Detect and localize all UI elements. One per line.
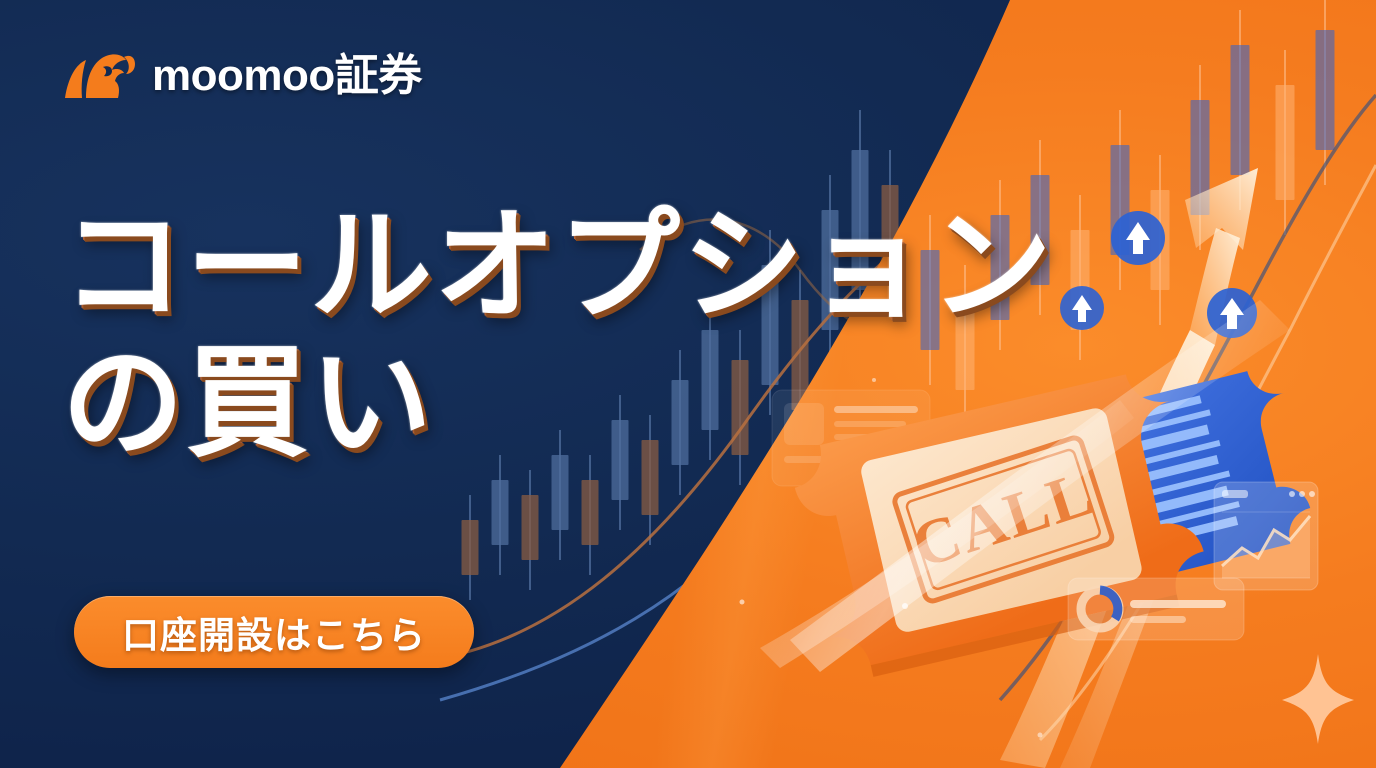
headline: コールオプション の買い [62, 198, 1062, 471]
promo-banner: CALL [0, 0, 1376, 768]
headline-line-1: コールオプション [62, 198, 1062, 335]
open-account-button[interactable]: 口座開設はこちら [74, 596, 474, 668]
chart-window-card [1214, 482, 1318, 590]
headline-line-2: の買い [62, 335, 1062, 472]
sparkle-icon [1282, 654, 1354, 744]
moomoo-bull-icon [62, 48, 136, 104]
brand-logo[interactable]: moomoo証券 [62, 48, 422, 104]
open-account-button-label: 口座開設はこちら [122, 605, 426, 659]
brand-name: moomoo証券 [152, 54, 422, 98]
